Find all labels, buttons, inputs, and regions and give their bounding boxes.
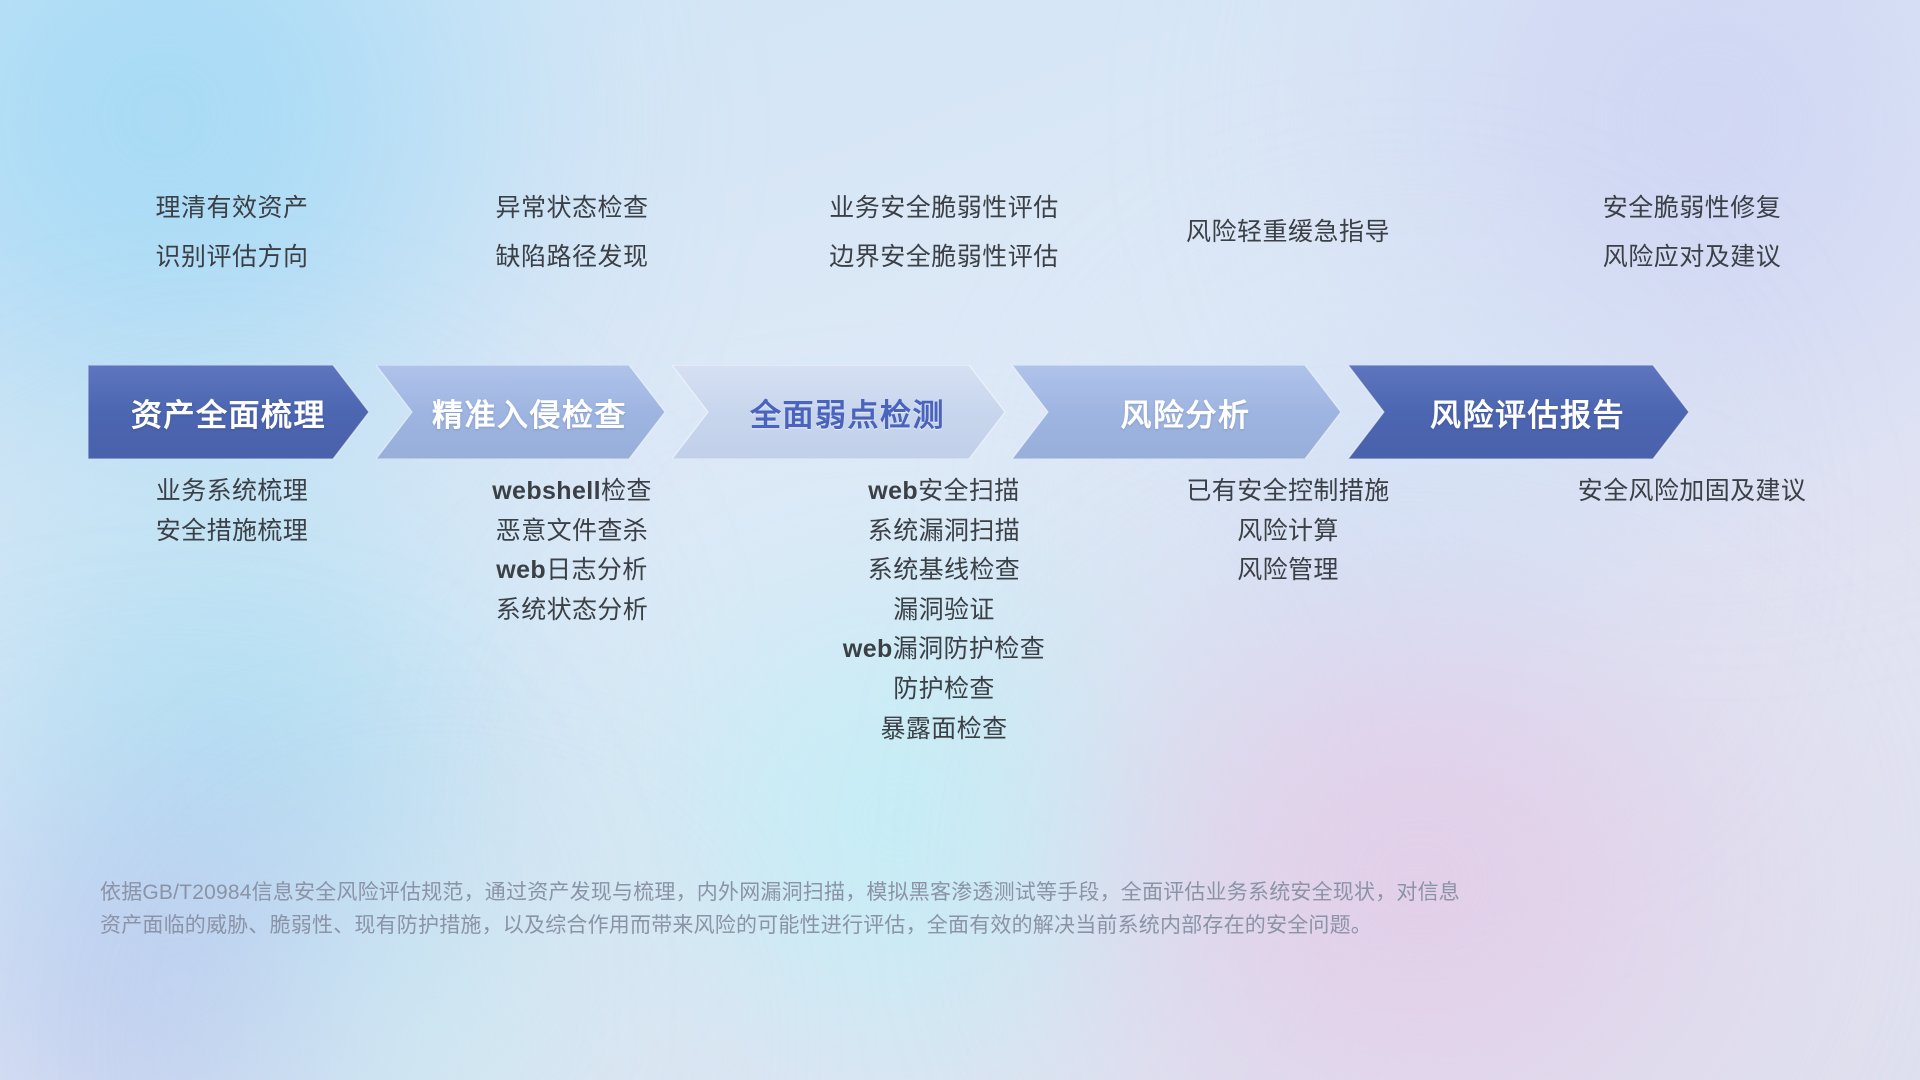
top-note-line: 理清有效资产 (155, 184, 308, 233)
detail-item-text: 检查 (601, 477, 652, 505)
detail-item-bold-prefix: web (843, 635, 893, 663)
detail-item-bold-prefix: webshell (492, 477, 601, 505)
top-note-line: 业务安全脆弱性评估 (829, 184, 1059, 233)
detail-list-item: web漏洞防护检查 (843, 630, 1045, 670)
detail-item-bold-prefix: web (868, 477, 918, 505)
process-step-label: 风险评估报告 (1430, 390, 1625, 435)
stage-top-notes-risk-analysis: 风险轻重缓急指导 (1068, 184, 1508, 257)
detail-list-item: 防护检查 (893, 670, 995, 710)
detail-list-item: web日志分析 (496, 551, 647, 591)
footer-line: 依据GB/T20984信息安全风险评估规范，通过资产发现与梳理，内外网漏洞扫描，… (100, 876, 1620, 909)
process-step-label: 全面弱点检测 (750, 390, 945, 435)
detail-list-item: 业务系统梳理 (156, 472, 308, 512)
process-step-risk-report[interactable]: 风险评估报告 (1348, 365, 1689, 459)
stage-top-notes-row: 理清有效资产识别评估方向异常状态检查缺陷路径发现业务安全脆弱性评估边界安全脆弱性… (0, 184, 1920, 288)
detail-list-item: 恶意文件查杀 (496, 512, 648, 552)
top-note-line: 识别评估方向 (155, 233, 308, 282)
detail-list-item: 系统漏洞扫描 (868, 512, 1020, 552)
detail-list-item: webshell检查 (492, 472, 652, 512)
process-step-weakness-detection[interactable]: 全面弱点检测 (672, 365, 1005, 459)
detail-list-item: 已有安全控制措施 (1186, 472, 1389, 512)
detail-list-item: 安全风险加固及建议 (1578, 472, 1807, 512)
top-note-line: 风险轻重缓急指导 (1186, 208, 1390, 257)
top-note-line: 缺陷路径发现 (495, 233, 648, 282)
process-step-label: 精准入侵检查 (432, 390, 627, 435)
top-note-line: 安全脆弱性修复 (1603, 184, 1782, 233)
process-step-intrusion-check[interactable]: 精准入侵检查 (376, 365, 665, 459)
top-note-line: 边界安全脆弱性评估 (829, 233, 1059, 282)
stage-detail-list-risk-analysis: 已有安全控制措施风险计算风险管理 (1058, 472, 1518, 591)
detail-list-item: 暴露面检查 (880, 710, 1007, 750)
top-note-line: 异常状态检查 (495, 184, 648, 233)
stage-top-notes-risk-report: 安全脆弱性修复风险应对及建议 (1472, 184, 1912, 282)
process-chevron-band: 资产全面梳理精准入侵检查全面弱点检测风险分析风险评估报告 (88, 365, 1848, 459)
detail-item-bold-prefix: web (496, 556, 546, 584)
detail-list-item: 风险管理 (1237, 551, 1339, 591)
detail-list-item: 漏洞验证 (893, 591, 995, 631)
top-note-line: 风险应对及建议 (1603, 233, 1782, 282)
detail-list-item: web安全扫描 (868, 472, 1019, 512)
footer-description: 依据GB/T20984信息安全风险评估规范，通过资产发现与梳理，内外网漏洞扫描，… (100, 876, 1620, 942)
process-step-label: 风险分析 (1121, 390, 1251, 435)
process-step-risk-analysis[interactable]: 风险分析 (1012, 365, 1341, 459)
process-step-asset-inventory[interactable]: 资产全面梳理 (88, 365, 369, 459)
detail-item-text: 安全扫描 (918, 477, 1020, 505)
detail-list-item: 风险计算 (1237, 512, 1339, 552)
detail-list-item: 安全措施梳理 (156, 512, 308, 552)
detail-list-item: 系统基线检查 (868, 551, 1020, 591)
detail-list-item: 系统状态分析 (496, 591, 648, 631)
footer-line: 资产面临的威胁、脆弱性、现有防护措施，以及综合作用而带来风险的可能性进行评估，全… (100, 909, 1620, 942)
process-step-label: 资产全面梳理 (131, 390, 326, 435)
stage-detail-list-risk-report: 安全风险加固及建议 (1462, 472, 1920, 512)
detail-item-text: 漏洞防护检查 (893, 635, 1045, 663)
detail-item-text: 日志分析 (546, 556, 648, 584)
